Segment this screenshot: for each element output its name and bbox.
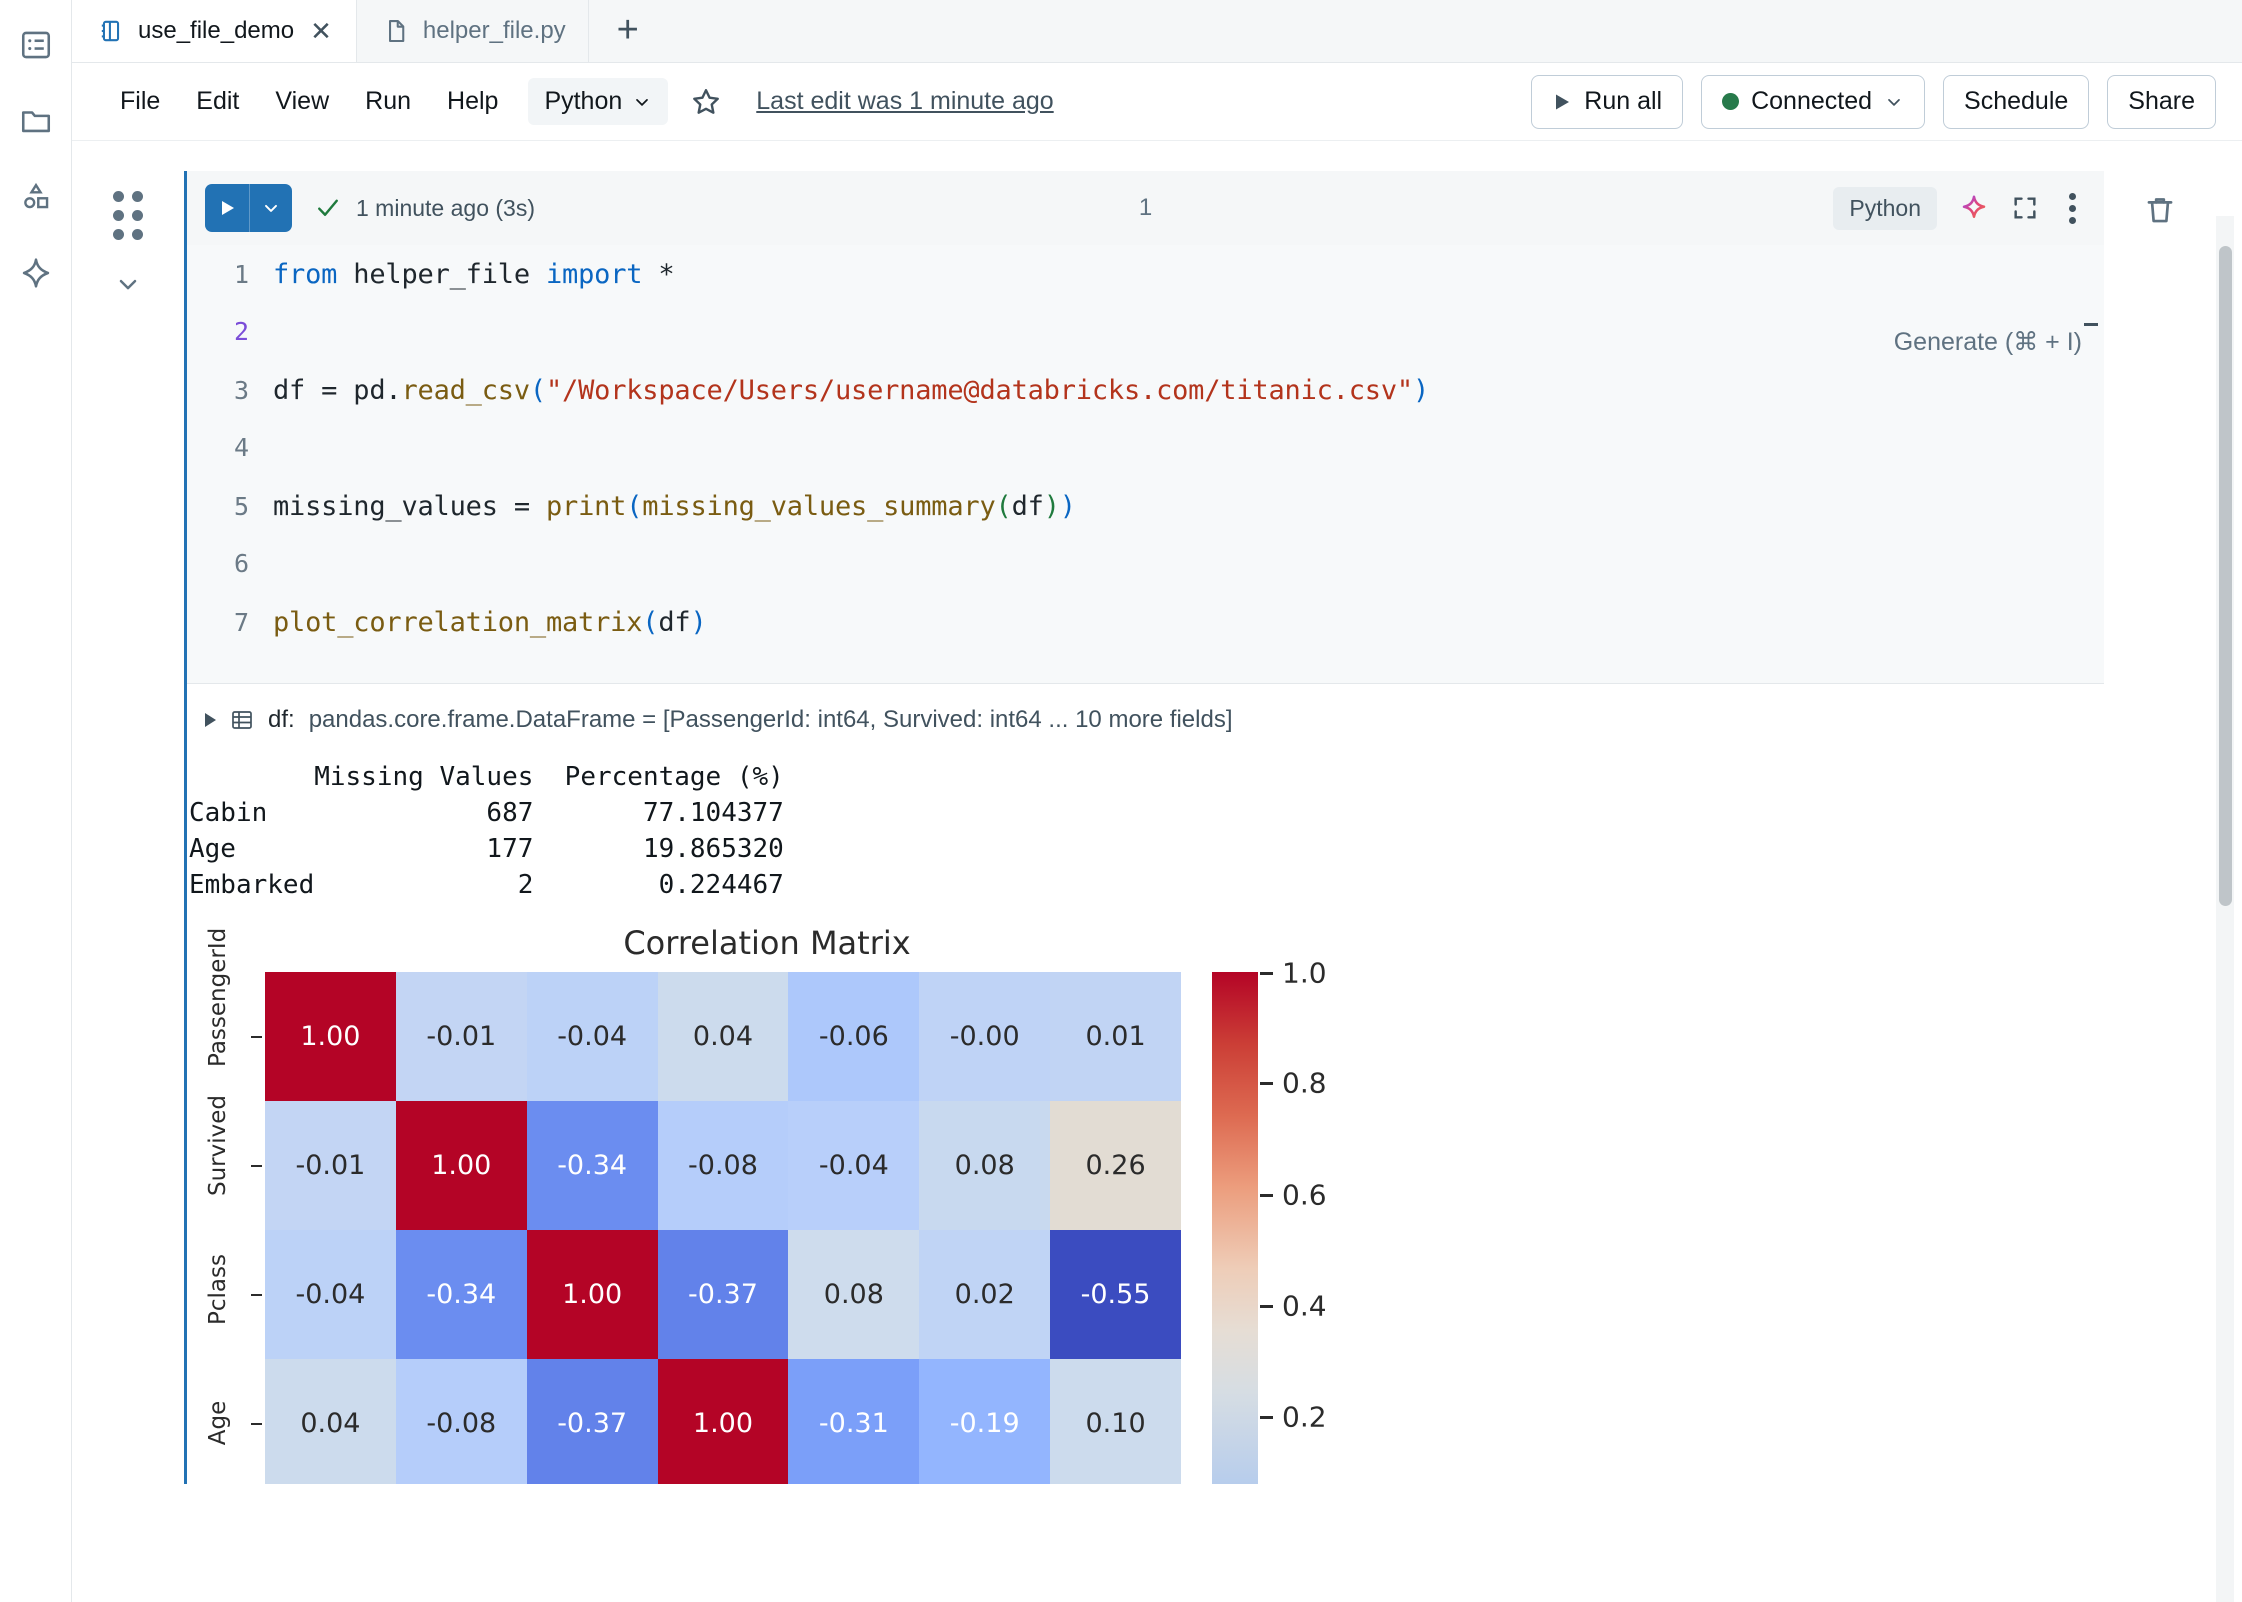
colorbar-tick-label: 0.6 <box>1282 1178 1327 1211</box>
tab-use-file-demo[interactable]: use_file_demo ✕ <box>72 0 357 62</box>
heatmap-cell: 0.01 <box>1050 972 1181 1101</box>
code-text-3: df = pd.read_csv("/Workspace/Users/usern… <box>273 375 1429 406</box>
code-line: 2 <box>187 317 2104 375</box>
colorbar-tick <box>1260 1082 1273 1085</box>
cell-toolbar: 1 minute ago (3s) 1 Python <box>187 171 2104 245</box>
code-line: 1 from helper_file import * <box>187 259 2104 317</box>
assistant-sparkle-icon[interactable] <box>13 250 59 296</box>
status-dot-icon <box>1722 93 1739 110</box>
code-line: 5 missing_values = print(missing_values_… <box>187 491 2104 549</box>
success-check-icon <box>314 194 342 222</box>
cell-language-tag[interactable]: Python <box>1833 187 1937 230</box>
play-icon <box>1552 92 1572 112</box>
heatmap-cell: -0.04 <box>788 1101 919 1230</box>
cell-more-options-icon[interactable] <box>2061 189 2084 228</box>
menu-run[interactable]: Run <box>347 79 429 124</box>
correlation-matrix-figure: Correlation Matrix PassengerIdSurvivedPc… <box>187 924 1647 1484</box>
tab-helper-file-py[interactable]: helper_file.py <box>357 0 589 62</box>
heatmap-cell: -0.37 <box>527 1359 658 1484</box>
heatmap-cell: 1.00 <box>527 1230 658 1359</box>
heatmap-cell: 1.00 <box>396 1101 527 1230</box>
heatmap-cell: -0.08 <box>396 1359 527 1484</box>
y-axis-tick <box>251 1036 262 1038</box>
heatmap-cell: 0.04 <box>658 972 789 1101</box>
connected-label: Connected <box>1751 87 1872 116</box>
heatmap-cell: -0.31 <box>788 1359 919 1484</box>
share-button[interactable]: Share <box>2107 75 2216 129</box>
heatmap-cell: 0.08 <box>919 1101 1050 1230</box>
heatmap-cell: -0.55 <box>1050 1230 1181 1359</box>
heatmap-cell: 0.26 <box>1050 1101 1181 1230</box>
compute-status-button[interactable]: Connected <box>1701 75 1925 129</box>
heatmap-cell: -0.04 <box>265 1230 396 1359</box>
heatmap-cell: -0.04 <box>527 972 658 1101</box>
catalog-icon[interactable] <box>13 174 59 220</box>
stdout-text: Missing Values Percentage (%) Cabin 687 … <box>187 744 2104 912</box>
notebook-body: 1 minute ago (3s) 1 Python <box>72 141 2242 1602</box>
language-selector[interactable]: Python <box>528 78 668 125</box>
colorbar-tick <box>1260 1416 1273 1419</box>
heatmap-cell: -0.34 <box>527 1101 658 1230</box>
heatmap-cell: -0.00 <box>919 972 1050 1101</box>
workspace-icon[interactable] <box>13 22 59 68</box>
heatmap-cell: -0.34 <box>396 1230 527 1359</box>
new-tab-button[interactable]: + <box>589 0 667 62</box>
line-number: 4 <box>187 433 273 462</box>
drag-handle-icon[interactable] <box>113 191 143 240</box>
run-cell-button[interactable] <box>205 184 292 232</box>
close-icon[interactable]: ✕ <box>308 18 334 44</box>
y-axis-tick-label: Pclass <box>205 1263 231 1325</box>
trash-icon[interactable] <box>2143 193 2177 227</box>
cell-gutter <box>72 171 184 298</box>
menu-edit[interactable]: Edit <box>178 79 257 124</box>
line-number: 2 <box>187 317 273 346</box>
heatmap-cell: -0.19 <box>919 1359 1050 1484</box>
heatmap-cell: 0.08 <box>788 1230 919 1359</box>
colorbar-tick <box>1260 972 1273 975</box>
language-label: Python <box>544 87 622 116</box>
menu-help[interactable]: Help <box>429 79 516 124</box>
colorbar <box>1212 972 1258 1484</box>
heatmap-cell: 0.02 <box>919 1230 1050 1359</box>
cell-toolbar-actions: Python <box>1833 187 2084 230</box>
dataframe-summary-row[interactable]: df: pandas.core.frame.DataFrame = [Passe… <box>187 698 2104 744</box>
tab-title: helper_file.py <box>423 17 566 45</box>
line-number: 5 <box>187 492 273 521</box>
heatmap-cell: 1.00 <box>658 1359 789 1484</box>
y-axis-labels: PassengerIdSurvivedPclassAge <box>187 972 249 1484</box>
heatmap-cell: 0.04 <box>265 1359 396 1484</box>
heatmap-cell: -0.01 <box>396 972 527 1101</box>
cell-delete-column <box>2104 171 2216 227</box>
colorbar-tick <box>1260 1194 1273 1197</box>
y-axis-tick <box>251 1294 262 1296</box>
tab-strip: use_file_demo ✕ helper_file.py + <box>72 0 2242 63</box>
code-line: 6 <box>187 549 2104 607</box>
expand-fullscreen-icon[interactable] <box>2011 194 2039 222</box>
heatmap-cell: -0.06 <box>788 972 919 1101</box>
code-line: 3 df = pd.read_csv("/Workspace/Users/use… <box>187 375 2104 433</box>
line-number: 7 <box>187 608 273 637</box>
y-axis-tick-label: Age <box>205 1392 231 1454</box>
vertical-scrollbar[interactable] <box>2216 216 2234 1602</box>
assistant-sparkle-icon[interactable] <box>1959 193 1989 223</box>
y-axis-tick <box>251 1165 262 1167</box>
run-all-label: Run all <box>1584 87 1662 116</box>
cell-index-label: 1 <box>1139 194 1152 222</box>
chevron-down-icon <box>1884 92 1904 112</box>
notebook-cell: 1 minute ago (3s) 1 Python <box>184 171 2104 1484</box>
tab-title: use_file_demo <box>138 17 294 45</box>
databricks-notebook-app: use_file_demo ✕ helper_file.py + File Ed… <box>0 0 2242 1602</box>
left-nav-rail <box>0 0 72 1602</box>
colorbar-tick-label: 0.8 <box>1282 1066 1327 1099</box>
star-icon[interactable] <box>690 86 722 118</box>
menu-bar-actions: Run all Connected Schedule Share <box>1531 75 2216 129</box>
heatmap-cell: 1.00 <box>265 972 396 1101</box>
file-icon <box>383 18 409 44</box>
last-edit-link[interactable]: Last edit was 1 minute ago <box>756 87 1053 116</box>
table-icon <box>230 708 254 732</box>
y-axis-tick-label: PassengerId <box>205 1005 231 1067</box>
menu-file[interactable]: File <box>102 79 178 124</box>
code-text-7: plot_correlation_matrix(df) <box>273 607 707 638</box>
schedule-button[interactable]: Schedule <box>1943 75 2089 129</box>
run-options-chevron-icon[interactable] <box>250 184 292 232</box>
line-number: 6 <box>187 549 273 578</box>
code-line: 7 plot_correlation_matrix(df) <box>187 607 2104 665</box>
code-line: 4 <box>187 433 2104 491</box>
folder-icon[interactable] <box>13 98 59 144</box>
colorbar-tick-label: 1.0 <box>1282 956 1327 989</box>
y-axis-tick-label: Survived <box>205 1134 231 1196</box>
menu-view[interactable]: View <box>257 79 347 124</box>
colorbar-tick-label: 0.4 <box>1282 1289 1327 1322</box>
code-editor[interactable]: Generate (⌘ + I) 1 from helper_file impo… <box>187 245 2104 684</box>
share-label: Share <box>2128 87 2195 116</box>
play-icon <box>205 184 249 232</box>
dataframe-var-name: df: <box>268 706 295 734</box>
heatmap-cell: -0.01 <box>265 1101 396 1230</box>
y-axis-tick <box>251 1423 262 1425</box>
collapse-cell-chevron-icon[interactable] <box>114 270 142 298</box>
notebook-icon <box>98 18 124 44</box>
editor-caret-marker <box>2084 323 2098 326</box>
dataframe-type-label: pandas.core.frame.DataFrame = [Passenger… <box>309 706 1233 734</box>
expand-triangle-icon[interactable] <box>205 713 216 727</box>
scrollbar-thumb[interactable] <box>2219 246 2232 906</box>
heatmap-grid: 1.00-0.01-0.040.04-0.06-0.000.01-0.011.0… <box>265 972 1181 1484</box>
run-all-button[interactable]: Run all <box>1531 75 1683 129</box>
code-text-1: from helper_file import * <box>273 259 674 290</box>
heatmap-cell: -0.37 <box>658 1230 789 1359</box>
generate-hint-label[interactable]: Generate (⌘ + I) <box>1894 327 2082 357</box>
line-number: 1 <box>187 260 273 289</box>
menu-bar: File Edit View Run Help Python Last edit… <box>72 63 2242 141</box>
cell-output: df: pandas.core.frame.DataFrame = [Passe… <box>187 684 2104 1484</box>
main-column: use_file_demo ✕ helper_file.py + File Ed… <box>72 0 2242 1602</box>
colorbar-tick-label: 0.2 <box>1282 1400 1327 1433</box>
heatmap-cell: -0.08 <box>658 1101 789 1230</box>
code-text-5: missing_values = print(missing_values_su… <box>273 491 1076 522</box>
heatmap-cell: 0.10 <box>1050 1359 1181 1484</box>
schedule-label: Schedule <box>1964 87 2068 116</box>
line-number: 3 <box>187 376 273 405</box>
colorbar-tick <box>1260 1305 1273 1308</box>
chart-title: Correlation Matrix <box>187 924 1347 962</box>
chevron-down-icon <box>632 92 652 112</box>
cell-status-text: 1 minute ago (3s) <box>356 195 535 222</box>
